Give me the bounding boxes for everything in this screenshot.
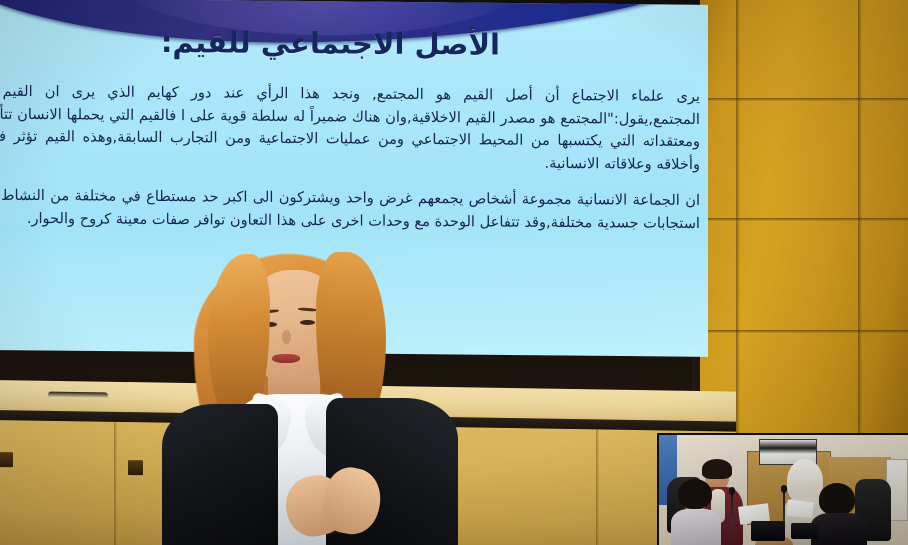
presenter-mouth bbox=[272, 354, 300, 363]
presenter bbox=[150, 236, 480, 545]
cabinet-seam bbox=[114, 422, 117, 545]
pip-laptop bbox=[791, 523, 819, 539]
presenter-nose bbox=[282, 330, 291, 344]
cabinet-handle[interactable] bbox=[128, 460, 143, 475]
wood-groove bbox=[736, 0, 740, 440]
wood-seam bbox=[700, 330, 908, 333]
presenter-jacket-left bbox=[162, 404, 278, 545]
pip-microphone-stem bbox=[783, 491, 785, 523]
pip-torso bbox=[811, 513, 867, 545]
counter-cable-slot bbox=[48, 392, 108, 399]
slide-title: الأصل الاجتماعي للقيم: bbox=[161, 26, 500, 62]
wood-seam bbox=[700, 218, 908, 221]
pip-hair bbox=[702, 459, 732, 479]
cabinet-seam bbox=[596, 429, 599, 545]
cabinet-handle[interactable] bbox=[0, 452, 13, 467]
pip-audience-window[interactable] bbox=[657, 433, 908, 545]
pip-microphone-stem bbox=[731, 493, 733, 527]
slide-body-text: يرى علماء الاجتماع أن أصل القيم هو المجت… bbox=[0, 80, 700, 235]
wood-wall-panel bbox=[700, 0, 908, 440]
presenter-eye-right bbox=[300, 320, 315, 325]
presenter-eyebrow-right bbox=[298, 307, 317, 311]
wood-groove bbox=[858, 0, 862, 440]
pip-papers bbox=[786, 500, 814, 519]
wood-seam bbox=[700, 98, 908, 101]
slide-paragraph-1: يرى علماء الاجتماع أن أصل القيم هو المجت… bbox=[0, 80, 700, 176]
pip-microphone-head bbox=[729, 487, 735, 495]
lecture-room-background: الأصل الاجتماعي للقيم: يرى علماء الاجتما… bbox=[0, 0, 908, 545]
pip-hair bbox=[678, 479, 712, 509]
slide-paragraph-2: ان الجماعة الانسانية مجموعة أشخاص يجمعهم… bbox=[0, 185, 700, 236]
pip-hair bbox=[819, 483, 855, 515]
pip-torso bbox=[671, 509, 721, 545]
pip-microphone-head bbox=[781, 485, 787, 493]
pip-laptop bbox=[751, 521, 785, 541]
video-frame: الأصل الاجتماعي للقيم: يرى علماء الاجتما… bbox=[0, 0, 908, 545]
